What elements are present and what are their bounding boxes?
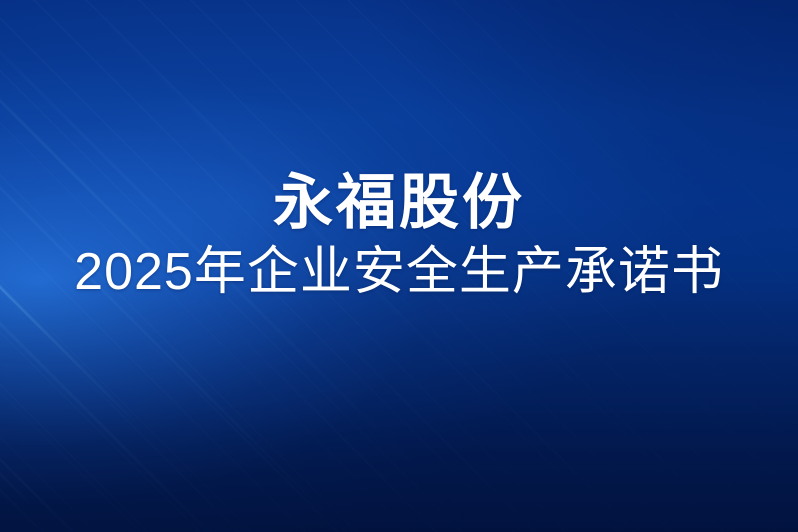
document-title-heading: 2025年企业安全生产承诺书 xyxy=(0,245,798,300)
company-name-heading: 永福股份 xyxy=(0,172,798,233)
title-block: 永福股份 2025年企业安全生产承诺书 xyxy=(0,172,798,300)
slide-canvas: 永福股份 2025年企业安全生产承诺书 xyxy=(0,0,798,532)
